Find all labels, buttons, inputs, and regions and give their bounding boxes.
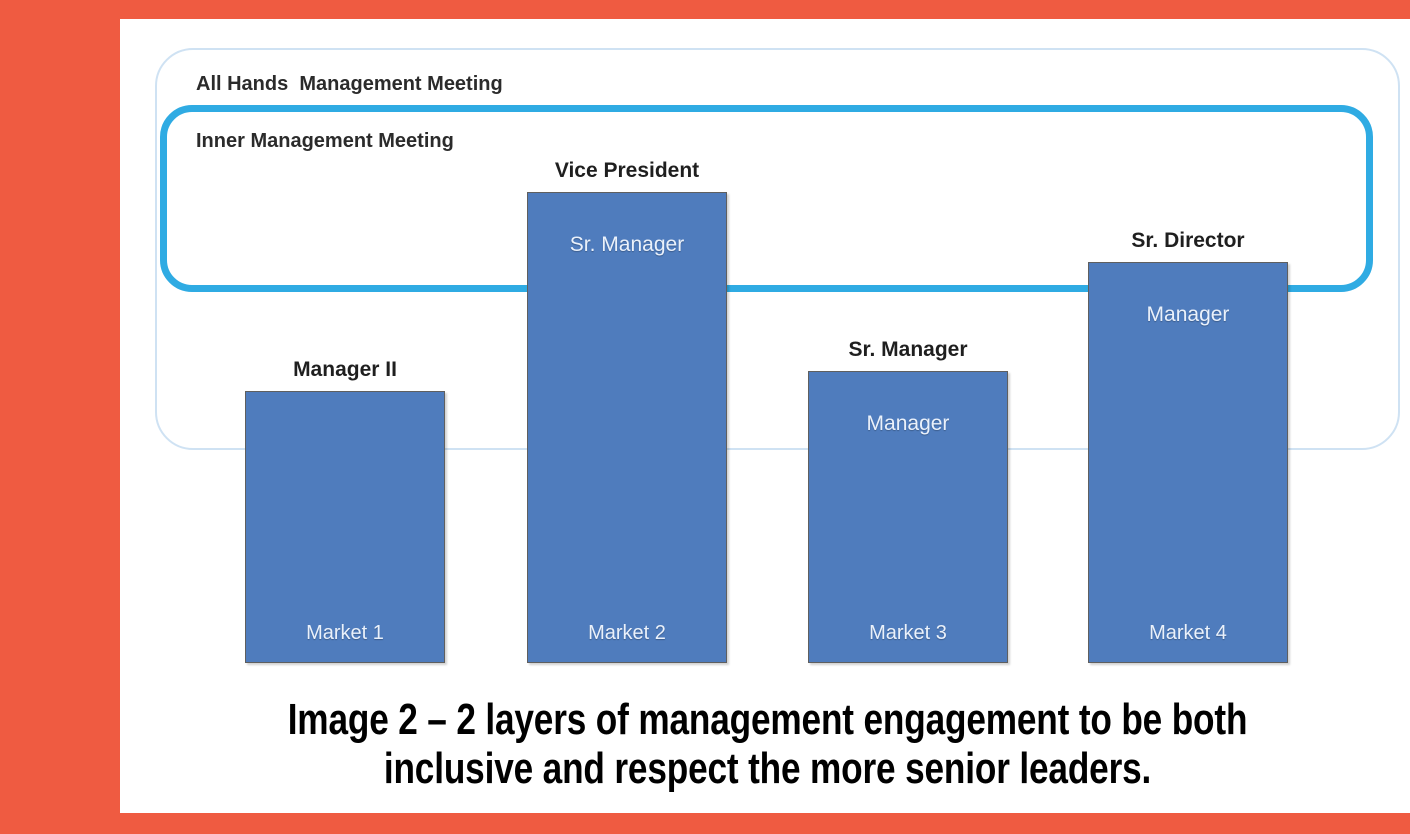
bar-2 bbox=[527, 192, 727, 663]
caption-line-1: Image 2 – 2 layers of management engagem… bbox=[282, 695, 1254, 744]
bar-4-inner-label: Manager bbox=[1088, 304, 1288, 325]
bar-4-category-label: Market 4 bbox=[1088, 623, 1288, 643]
bar-2-category-label: Market 2 bbox=[527, 623, 727, 643]
bar-1-top-label: Manager II bbox=[245, 359, 445, 380]
bar-3-category-label: Market 3 bbox=[808, 623, 1008, 643]
bar-chart-plot-area: Manager IIMarket 1Vice PresidentSr. Mana… bbox=[120, 19, 1410, 813]
caption-line-2: inclusive and respect the more senior le… bbox=[282, 744, 1254, 793]
orange-top-border bbox=[120, 0, 1410, 19]
figure-caption: Image 2 – 2 layers of management engagem… bbox=[282, 695, 1254, 794]
orange-left-border bbox=[0, 0, 120, 834]
orange-bottom-border bbox=[120, 813, 1410, 834]
figure-canvas: All Hands Management Meeting Inner Manag… bbox=[120, 19, 1410, 813]
bar-2-top-label: Vice President bbox=[527, 160, 727, 181]
bar-3-top-label: Sr. Manager bbox=[808, 339, 1008, 360]
bar-2-inner-label: Sr. Manager bbox=[527, 234, 727, 255]
bar-4-top-label: Sr. Director bbox=[1088, 230, 1288, 251]
screenshot-root: CREDIT: TRANSUNION All Hands Management … bbox=[0, 0, 1410, 834]
bar-3-inner-label: Manager bbox=[808, 413, 1008, 434]
bar-1-category-label: Market 1 bbox=[245, 623, 445, 643]
